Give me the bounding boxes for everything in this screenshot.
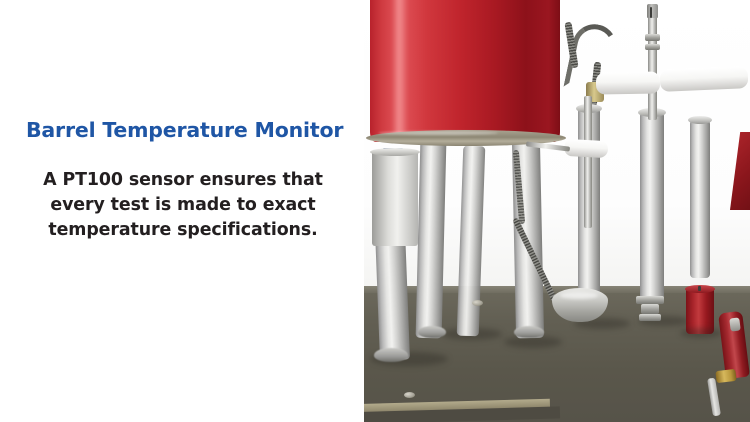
ceramic-handle [660, 66, 749, 92]
base-fitting [641, 304, 659, 314]
hand-tool-collar [715, 369, 736, 383]
post-foot [374, 348, 408, 362]
base-fitting [639, 314, 661, 321]
post-foot [418, 326, 446, 338]
page-title: Barrel Temperature Monitor [26, 119, 356, 142]
piston-rod [584, 96, 592, 228]
ceramic-handle [596, 71, 660, 94]
sample-cup-rim [370, 148, 420, 156]
body-line-3: temperature specifications. [18, 218, 348, 243]
support-post [640, 112, 664, 304]
product-photo [364, 0, 750, 422]
body-line-1: A PT100 sensor ensures that [18, 168, 348, 193]
base-fitting [636, 296, 664, 304]
piston-rod-slot [650, 7, 652, 18]
hand-tool-button [729, 317, 741, 331]
barrel-ring-highlight [378, 131, 498, 135]
piston-rod-collar [645, 34, 660, 41]
text-panel: Barrel Temperature Monitor A PT100 senso… [0, 0, 364, 422]
test-weight-shadow [680, 328, 722, 338]
catch-pan-highlight [560, 292, 598, 299]
piston-rod-tip [647, 4, 658, 18]
ceramic-handle [564, 139, 609, 158]
slide-root: Barrel Temperature Monitor A PT100 senso… [0, 0, 750, 422]
support-post [690, 120, 710, 278]
bench-screw [404, 392, 415, 398]
barrel-highlight [392, 0, 408, 136]
body-copy: A PT100 sensor ensures that every test i… [18, 168, 348, 244]
post-cap [688, 116, 712, 124]
piston-rod-collar [645, 44, 660, 50]
bench-screw [472, 300, 483, 306]
body-line-2: every test is made to exact [18, 193, 348, 218]
support-post [416, 140, 447, 339]
post-foot [514, 326, 544, 338]
piston-rod [648, 8, 657, 120]
test-weight-bore [698, 286, 701, 291]
sample-cup [372, 150, 418, 246]
